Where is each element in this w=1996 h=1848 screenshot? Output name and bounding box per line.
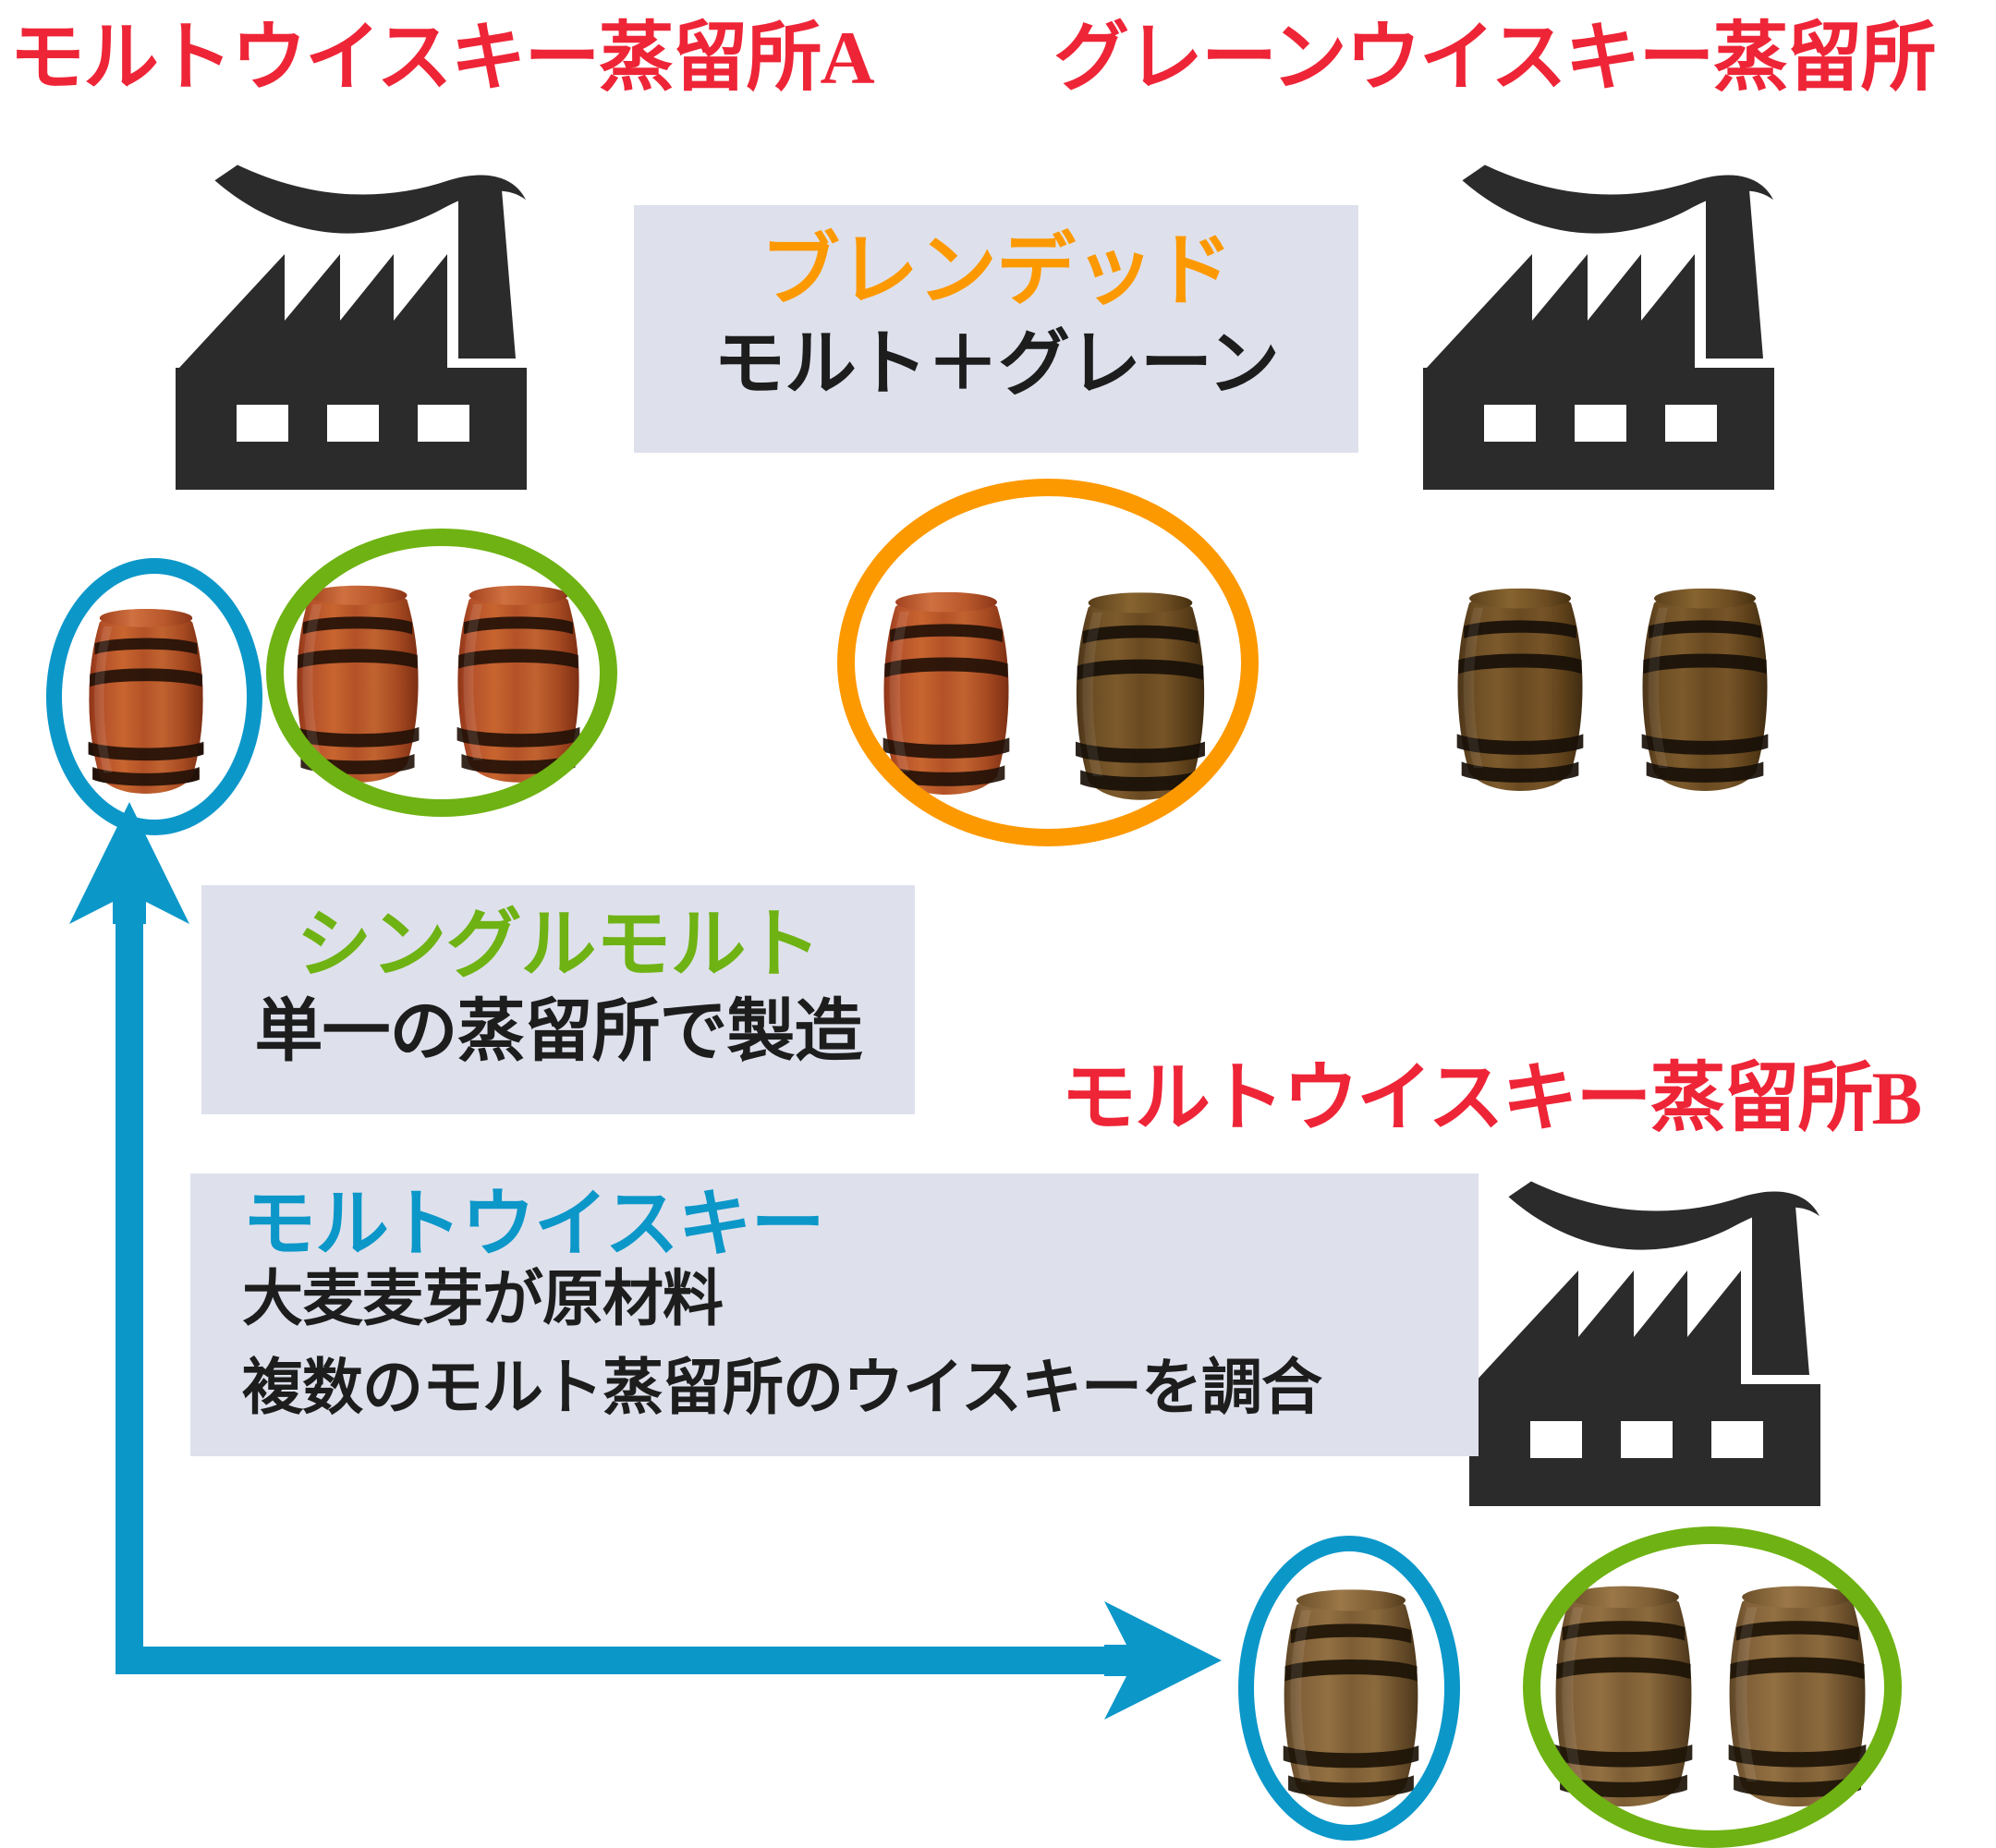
whisky-classification-diagram: モルトウイスキー蒸留所A グレーンウイスキー蒸留所 モルトウイスキー蒸留所B: [0, 0, 1996, 1848]
window-icon: [1575, 405, 1626, 442]
highlight-ring-orange: [837, 479, 1259, 846]
page-title-grain-distillery: グレーンウイスキー蒸留所: [1053, 20, 1934, 96]
panel-malt-whisky-line-1: 大麦麦芽が原材料: [190, 1264, 1479, 1334]
panel-malt-whisky-heading: モルトウイスキー: [190, 1173, 1479, 1264]
window-icon: [1484, 405, 1536, 442]
panel-single-malt: シングルモルト 単一の蒸留所で製造: [201, 885, 915, 1114]
window-icon: [1621, 1421, 1673, 1458]
sawtooth-roof-icon: [179, 254, 447, 368]
panel-malt-whisky-line-2: 複数のモルト蒸留所のウイスキーを調合: [190, 1334, 1479, 1423]
highlight-ring-blue-bottom: [1238, 1536, 1460, 1841]
chimney-icon: [458, 178, 516, 359]
highlight-ring-blue-left: [46, 558, 262, 835]
chimney-icon: [1706, 178, 1763, 359]
factory-icon-grain: [1423, 139, 1811, 527]
panel-single-malt-heading: シングルモルト: [201, 885, 915, 985]
panel-blended: ブレンデッド モルト＋グレーン: [634, 205, 1358, 453]
factory-icon-malt-b: [1469, 1155, 1857, 1543]
barrel-grain-2: [1626, 569, 1783, 800]
window-icon: [237, 405, 288, 442]
factory-icon-malt-a: [176, 139, 564, 527]
window-icon: [418, 405, 469, 442]
window-icon: [1530, 1421, 1582, 1458]
sawtooth-roof-icon: [1473, 1270, 1741, 1384]
page-title-malt-distillery-b: モルトウイスキー蒸留所B: [1061, 1061, 1920, 1137]
window-icon: [1711, 1421, 1763, 1458]
sawtooth-roof-icon: [1427, 254, 1695, 368]
window-icon: [327, 405, 379, 442]
page-title-malt-distillery-a: モルトウイスキー蒸留所A: [9, 20, 873, 96]
panel-blended-line-1: モルト＋グレーン: [634, 312, 1358, 404]
panel-blended-heading: ブレンデッド: [634, 205, 1358, 312]
highlight-ring-green-bottom: [1523, 1526, 1902, 1848]
panel-malt-whisky: モルトウイスキー 大麦麦芽が原材料 複数のモルト蒸留所のウイスキーを調合: [190, 1173, 1479, 1456]
barrel-grain-1: [1442, 569, 1599, 800]
highlight-ring-green-left: [266, 529, 617, 817]
chimney-icon: [1752, 1195, 1809, 1375]
window-icon: [1665, 405, 1717, 442]
panel-single-malt-line-1: 単一の蒸留所で製造: [201, 985, 915, 1071]
